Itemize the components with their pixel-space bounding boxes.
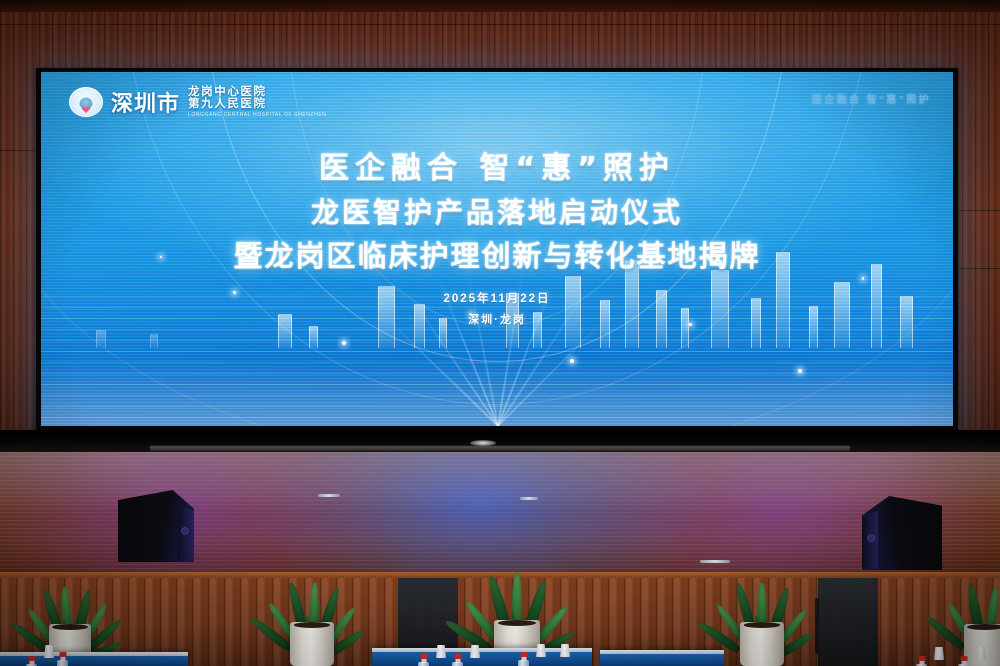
- led-screen: 深圳市 龙岗中心医院 第九人民医院 LONGGANG CENTRAL HOSPI…: [41, 72, 953, 426]
- foreground-table-center-right: [600, 650, 724, 666]
- wall-seam: [958, 210, 1000, 211]
- paper-cup: [44, 645, 54, 658]
- wall-seam: [0, 150, 36, 151]
- paper-cup: [436, 645, 446, 658]
- paper-cup: [536, 644, 546, 657]
- conference-hall-scene: 深圳市 龙岗中心医院 第九人民医院 LONGGANG CENTRAL HOSPI…: [0, 0, 1000, 666]
- screen-base-lip: [150, 446, 850, 451]
- event-title-line1: 医企融合 智“惠”照护: [41, 150, 953, 188]
- potted-plant-1: [10, 556, 130, 666]
- logo-city-name: 深圳市: [111, 86, 180, 118]
- event-title-line3: 暨龙岗区临床护理创新与转化基地揭牌: [41, 238, 953, 275]
- hospital-emblem-icon: [69, 87, 103, 117]
- foreground-table-center: [372, 648, 592, 666]
- paper-cup: [976, 647, 986, 660]
- event-title-block: 医企融合 智“惠”照护 龙医智护产品落地启动仪式 暨龙岗区临床护理创新与转化基地…: [41, 150, 953, 275]
- stage-light-glint: [470, 440, 496, 446]
- floor-cable: [318, 494, 340, 497]
- paper-cup: [470, 645, 480, 658]
- logo-hospital-line1: 龙岗中心医院: [188, 86, 326, 98]
- logo-hospital-line2: 第九人民医院: [188, 98, 326, 110]
- led-screen-frame: 深圳市 龙岗中心医院 第九人民医院 LONGGANG CENTRAL HOSPI…: [36, 68, 958, 430]
- potted-plant-2: [252, 554, 372, 666]
- stage-front-dark-panel: [818, 578, 878, 666]
- wall-seam: [958, 268, 1000, 269]
- logo-english-name: LONGGANG CENTRAL HOSPITAL OF SHENZHEN: [188, 113, 326, 118]
- corner-slogan: 医企融合 智“惠”照护: [812, 91, 931, 106]
- event-meta-block: 2025年11月22日 深圳·龙岗: [41, 290, 953, 327]
- floor-cable: [520, 497, 538, 500]
- hospital-logo: 深圳市 龙岗中心医院 第九人民医院 LONGGANG CENTRAL HOSPI…: [69, 86, 326, 118]
- event-title-line2: 龙医智护产品落地启动仪式: [41, 195, 953, 230]
- wall-seam: [0, 24, 1000, 25]
- event-location: 深圳·龙岗: [41, 311, 953, 327]
- wall-top-shadow: [0, 0, 1000, 12]
- paper-cup: [560, 644, 570, 657]
- event-date: 2025年11月22日: [41, 290, 953, 306]
- paper-cup: [934, 647, 944, 660]
- stage-monitor-speaker-left: [118, 490, 194, 562]
